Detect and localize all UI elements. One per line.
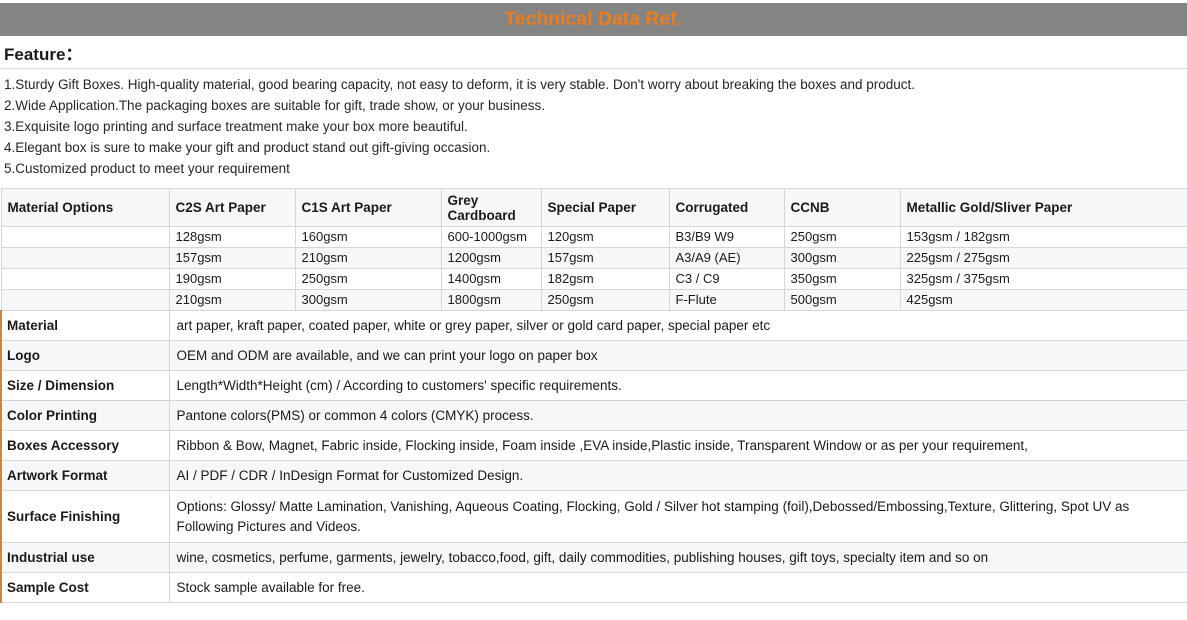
column-header-special-paper: Special Paper bbox=[541, 189, 669, 227]
cell: 120gsm bbox=[541, 227, 669, 248]
table-row: 190gsm 250gsm 1400gsm 182gsm C3 / C9 350… bbox=[1, 269, 1187, 290]
spec-row-surface-finishing: Surface Finishing Options: Glossy/ Matte… bbox=[1, 491, 1187, 543]
cell: 157gsm bbox=[541, 248, 669, 269]
cell: 350gsm bbox=[784, 269, 900, 290]
cell: 1400gsm bbox=[441, 269, 541, 290]
spec-value: Pantone colors(PMS) or common 4 colors (… bbox=[169, 401, 1187, 431]
column-header-c1s: C1S Art Paper bbox=[295, 189, 441, 227]
column-header-ccnb: CCNB bbox=[784, 189, 900, 227]
cell bbox=[1, 248, 169, 269]
spec-label: Sample Cost bbox=[1, 573, 169, 603]
cell: 210gsm bbox=[295, 248, 441, 269]
cell: A3/A9 (AE) bbox=[669, 248, 784, 269]
cell: 250gsm bbox=[541, 290, 669, 311]
technical-data-page: Technical Data Ref. Feature： 1.Sturdy Gi… bbox=[0, 0, 1187, 620]
feature-list: 1.Sturdy Gift Boxes. High-quality materi… bbox=[0, 74, 1187, 179]
feature-heading: Feature： bbox=[0, 40, 82, 65]
feature-line: 1.Sturdy Gift Boxes. High-quality materi… bbox=[0, 74, 1187, 95]
spec-row-material: Material art paper, kraft paper, coated … bbox=[1, 311, 1187, 341]
cell: 500gsm bbox=[784, 290, 900, 311]
material-options-header-row: Material Options C2S Art Paper C1S Art P… bbox=[1, 189, 1187, 227]
column-header-c2s: C2S Art Paper bbox=[169, 189, 295, 227]
cell: 300gsm bbox=[784, 248, 900, 269]
cell bbox=[1, 227, 169, 248]
cell: 160gsm bbox=[295, 227, 441, 248]
cell: 300gsm bbox=[295, 290, 441, 311]
feature-line: 5.Customized product to meet your requir… bbox=[0, 158, 1187, 179]
cell: B3/B9 W9 bbox=[669, 227, 784, 248]
spec-row-logo: Logo OEM and ODM are available, and we c… bbox=[1, 341, 1187, 371]
spec-row-size-dimension: Size / Dimension Length*Width*Height (cm… bbox=[1, 371, 1187, 401]
spec-row-color-printing: Color Printing Pantone colors(PMS) or co… bbox=[1, 401, 1187, 431]
cell: 128gsm bbox=[169, 227, 295, 248]
title-banner: Technical Data Ref. bbox=[0, 3, 1187, 36]
cell: 210gsm bbox=[169, 290, 295, 311]
page-title: Technical Data Ref. bbox=[505, 10, 683, 29]
spec-row-boxes-accessory: Boxes Accessory Ribbon & Bow, Magnet, Fa… bbox=[1, 431, 1187, 461]
cell: 250gsm bbox=[295, 269, 441, 290]
spec-label: Boxes Accessory bbox=[1, 431, 169, 461]
cell: 250gsm bbox=[784, 227, 900, 248]
table-row: 157gsm 210gsm 1200gsm 157gsm A3/A9 (AE) … bbox=[1, 248, 1187, 269]
spec-value: Length*Width*Height (cm) / According to … bbox=[169, 371, 1187, 401]
cell: 153gsm / 182gsm bbox=[900, 227, 1187, 248]
cell bbox=[1, 290, 169, 311]
feature-line: 3.Exquisite logo printing and surface tr… bbox=[0, 116, 1187, 137]
cell: 425gsm bbox=[900, 290, 1187, 311]
spec-label: Material bbox=[1, 311, 169, 341]
cell: 190gsm bbox=[169, 269, 295, 290]
spec-row-industrial-use: Industrial use wine, cosmetics, perfume,… bbox=[1, 543, 1187, 573]
column-header-grey-cardboard: Grey Cardboard bbox=[441, 189, 541, 227]
spec-value: Options: Glossy/ Matte Lamination, Vanis… bbox=[169, 491, 1187, 543]
column-header-metallic: Metallic Gold/Sliver Paper bbox=[900, 189, 1187, 227]
cell: 1200gsm bbox=[441, 248, 541, 269]
spec-value: OEM and ODM are available, and we can pr… bbox=[169, 341, 1187, 371]
cell: 157gsm bbox=[169, 248, 295, 269]
cell: C3 / C9 bbox=[669, 269, 784, 290]
feature-line: 4.Elegant box is sure to make your gift … bbox=[0, 137, 1187, 158]
cell: 182gsm bbox=[541, 269, 669, 290]
spec-row-artwork-format: Artwork Format AI / PDF / CDR / InDesign… bbox=[1, 461, 1187, 491]
spec-label: Size / Dimension bbox=[1, 371, 169, 401]
cell: F-Flute bbox=[669, 290, 784, 311]
cell: 600-1000gsm bbox=[441, 227, 541, 248]
spec-label: Surface Finishing bbox=[1, 491, 169, 543]
spec-value: Ribbon & Bow, Magnet, Fabric inside, Flo… bbox=[169, 431, 1187, 461]
spec-value: AI / PDF / CDR / InDesign Format for Cus… bbox=[169, 461, 1187, 491]
feature-line: 2.Wide Application.The packaging boxes a… bbox=[0, 95, 1187, 116]
spec-label: Artwork Format bbox=[1, 461, 169, 491]
table-row: 210gsm 300gsm 1800gsm 250gsm F-Flute 500… bbox=[1, 290, 1187, 311]
table-row: 128gsm 160gsm 600-1000gsm 120gsm B3/B9 W… bbox=[1, 227, 1187, 248]
cell: 325gsm / 375gsm bbox=[900, 269, 1187, 290]
spec-label: Logo bbox=[1, 341, 169, 371]
spec-value: Stock sample available for free. bbox=[169, 573, 1187, 603]
spec-value: wine, cosmetics, perfume, garments, jewe… bbox=[169, 543, 1187, 573]
spec-label: Color Printing bbox=[1, 401, 169, 431]
specification-table: Material Options C2S Art Paper C1S Art P… bbox=[0, 188, 1187, 603]
spec-value: art paper, kraft paper, coated paper, wh… bbox=[169, 311, 1187, 341]
cell bbox=[1, 269, 169, 290]
cell: 225gsm / 275gsm bbox=[900, 248, 1187, 269]
spec-label: Industrial use bbox=[1, 543, 169, 573]
column-header-material-options: Material Options bbox=[1, 189, 169, 227]
column-header-corrugated: Corrugated bbox=[669, 189, 784, 227]
feature-heading-row: Feature： bbox=[0, 36, 1187, 69]
cell: 1800gsm bbox=[441, 290, 541, 311]
spec-row-sample-cost: Sample Cost Stock sample available for f… bbox=[1, 573, 1187, 603]
